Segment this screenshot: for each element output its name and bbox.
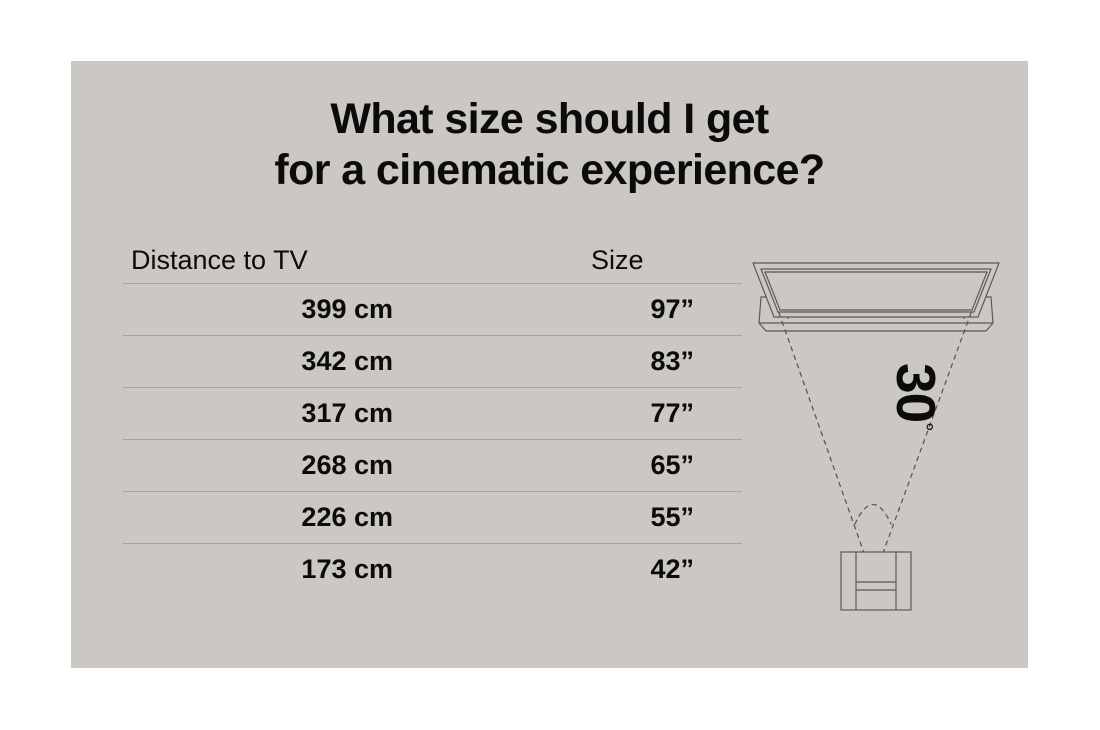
- diagram-svg: [731, 241, 1021, 621]
- cell-distance: 317 cm: [123, 398, 583, 429]
- column-header-distance: Distance to TV: [123, 245, 583, 276]
- table-row: 173 cm 42”: [123, 543, 742, 595]
- screenshot-root: What size should I get for a cinematic e…: [0, 0, 1100, 730]
- cell-distance: 226 cm: [123, 502, 583, 533]
- info-card: What size should I get for a cinematic e…: [71, 61, 1028, 668]
- cell-distance: 268 cm: [123, 450, 583, 481]
- viewing-cone-left-icon: [779, 313, 864, 553]
- column-header-size: Size: [583, 245, 742, 276]
- angle-arc-icon: [855, 505, 891, 525]
- cell-distance: 173 cm: [123, 554, 583, 585]
- cell-size: 83”: [583, 346, 742, 377]
- cell-size: 42”: [583, 554, 742, 585]
- table-row: 317 cm 77”: [123, 387, 742, 439]
- cell-size: 97”: [583, 294, 742, 325]
- table-row: 399 cm 97”: [123, 283, 742, 335]
- angle-value: 30: [885, 363, 947, 422]
- viewing-angle-diagram: 30°: [731, 241, 1021, 621]
- cell-size: 77”: [583, 398, 742, 429]
- size-table: Distance to TV Size 399 cm 97” 342 cm 83…: [123, 237, 742, 595]
- title-line-1: What size should I get: [71, 94, 1028, 145]
- cell-size: 65”: [583, 450, 742, 481]
- title-line-2: for a cinematic experience?: [71, 145, 1028, 196]
- table-row: 268 cm 65”: [123, 439, 742, 491]
- table-row: 226 cm 55”: [123, 491, 742, 543]
- viewing-cone-right-icon: [883, 313, 971, 553]
- table-header-row: Distance to TV Size: [123, 237, 742, 283]
- table-row: 342 cm 83”: [123, 335, 742, 387]
- cell-distance: 399 cm: [123, 294, 583, 325]
- cell-distance: 342 cm: [123, 346, 583, 377]
- degree-symbol: °: [911, 422, 937, 430]
- sofa-icon: [841, 552, 911, 610]
- viewing-angle-label: 30°: [884, 363, 948, 423]
- tv-screen-icon: [753, 263, 999, 317]
- cell-size: 55”: [583, 502, 742, 533]
- page-title: What size should I get for a cinematic e…: [71, 94, 1028, 196]
